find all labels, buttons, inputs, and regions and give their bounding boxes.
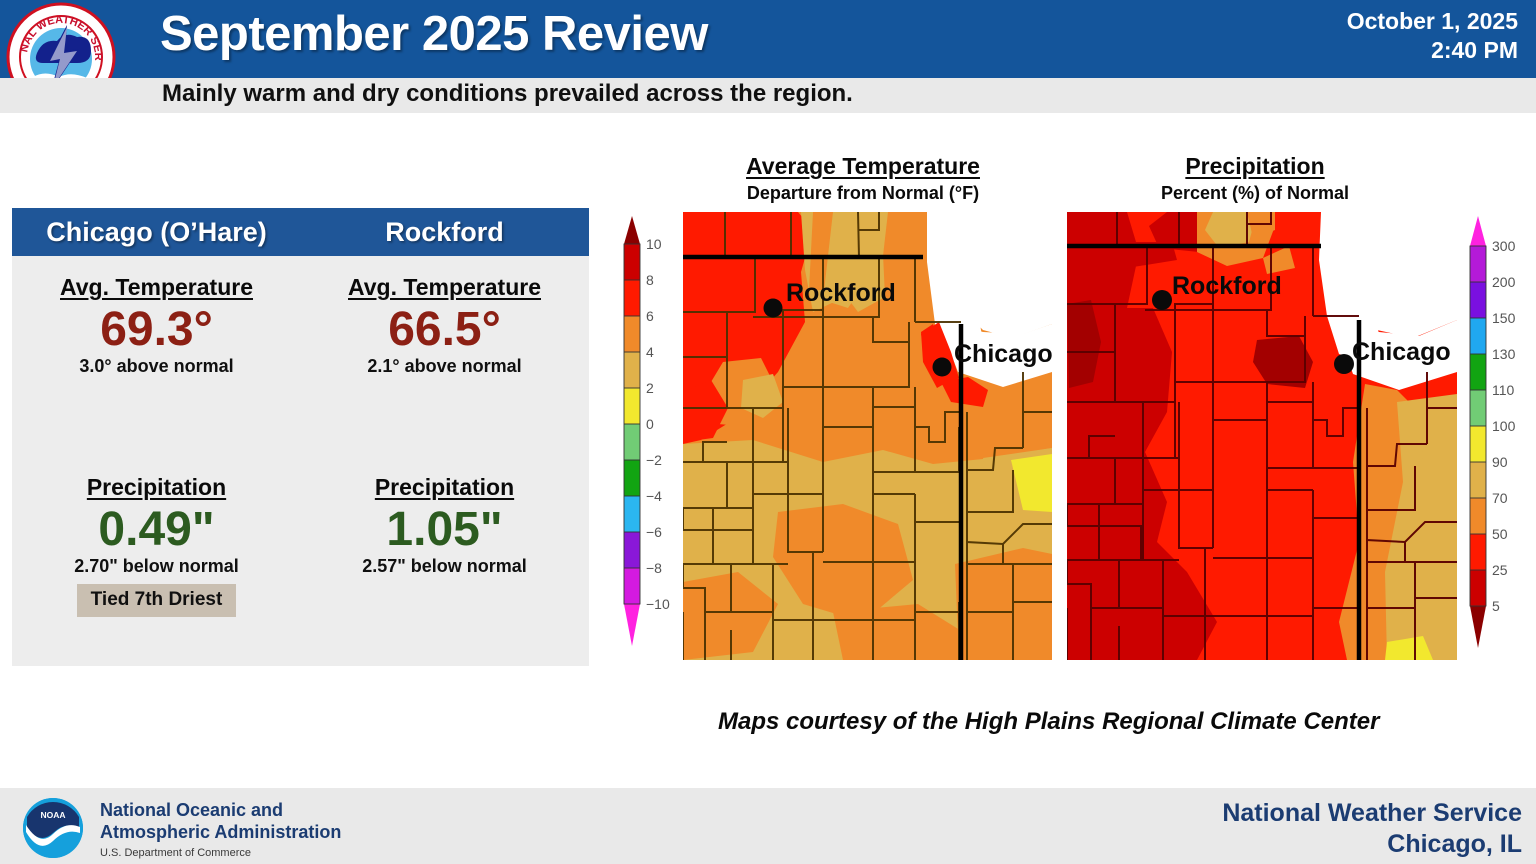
station-name-chicago: Chicago (O’Hare) xyxy=(46,217,267,248)
metric-label: Avg. Temperature xyxy=(60,274,253,301)
map-title-main: Precipitation xyxy=(1185,153,1324,180)
status-badge: Tied 7th Driest xyxy=(77,584,237,617)
colorbar-tick-label: 10 xyxy=(646,236,662,252)
svg-text:Rockford: Rockford xyxy=(786,279,896,307)
metric-departure: 2.57" below normal xyxy=(300,556,589,577)
colorbar-tick-label: 0 xyxy=(646,416,654,432)
station-panel-chicago: Chicago (O’Hare) Avg. Temperature 69.3° … xyxy=(12,208,301,666)
metric-departure: 2.1° above normal xyxy=(300,356,589,377)
colorbar-tick-label: 6 xyxy=(646,308,654,324)
colorbar-tick-label: 2 xyxy=(646,380,654,396)
colorbar-tick-label: 110 xyxy=(1492,382,1514,398)
colorbar-tick-label: 4 xyxy=(646,344,654,360)
station-panel-rockford: Rockford Avg. Temperature 66.5° 2.1° abo… xyxy=(300,208,589,666)
colorbar-tick-label: −2 xyxy=(646,452,662,468)
noaa-logo-icon: NOAA xyxy=(22,797,84,859)
metric-precipitation-rockford: Precipitation 1.05" 2.57" below normal xyxy=(300,474,589,577)
colorbar-tick-label: 5 xyxy=(1492,598,1500,614)
svg-text:Rockford: Rockford xyxy=(1172,272,1282,300)
colorbar-tick-label: 50 xyxy=(1492,526,1508,542)
metric-label: Avg. Temperature xyxy=(348,274,541,301)
subtitle-text: Mainly warm and dry conditions prevailed… xyxy=(162,80,853,108)
map-title-main: Average Temperature xyxy=(746,153,980,180)
header-datetime: October 1, 2025 2:40 PM xyxy=(1347,7,1518,66)
map-temperature-svg: Rockford xyxy=(683,212,1052,660)
colorbar-tick-label: 90 xyxy=(1492,454,1508,470)
colorbar-tick-label: −4 xyxy=(646,488,662,504)
colorbar-tick-label: 200 xyxy=(1492,274,1515,290)
map-title-precipitation: Precipitation Percent (%) of Normal xyxy=(1070,153,1440,204)
office-signature: National Weather Service Chicago, IL xyxy=(1222,798,1522,860)
map-precipitation-percent: Rockford Chicago xyxy=(1067,212,1457,660)
svg-text:NOAA: NOAA xyxy=(40,810,65,820)
map-credit: Maps courtesy of the High Plains Regiona… xyxy=(718,708,1379,736)
colorbar-tick-label: −10 xyxy=(646,596,670,612)
station-name-rockford: Rockford xyxy=(385,217,504,248)
metric-departure: 2.70" below normal xyxy=(12,556,301,577)
map-title-sub: Percent (%) of Normal xyxy=(1070,183,1440,204)
metric-value: 66.5° xyxy=(300,305,589,355)
colorbar-precipitation: 300200150130110100907050255 xyxy=(1468,214,1494,663)
noaa-line-2: Atmospheric Administration xyxy=(100,822,341,844)
colorbar-tick-label: 100 xyxy=(1492,418,1515,434)
metric-departure: 3.0° above normal xyxy=(12,356,301,377)
metric-avg-temperature-chicago: Avg. Temperature 69.3° 3.0° above normal xyxy=(12,274,301,377)
weather-review-graphic: NATIONAL WEATHER SERVICE September 2025 … xyxy=(0,0,1536,864)
colorbar-tick-label: 130 xyxy=(1492,346,1515,362)
header-date: October 1, 2025 xyxy=(1347,7,1518,36)
noaa-line-1: National Oceanic and xyxy=(100,800,341,822)
header-time: 2:40 PM xyxy=(1347,36,1518,65)
station-panel-header-chicago: Chicago (O’Hare) xyxy=(12,208,301,256)
colorbar-tick-label: 300 xyxy=(1492,238,1515,254)
map-title-sub: Departure from Normal (°F) xyxy=(678,183,1048,204)
noaa-wordmark: National Oceanic and Atmospheric Adminis… xyxy=(100,800,341,859)
office-line-2: Chicago, IL xyxy=(1222,829,1522,860)
noaa-line-3: U.S. Department of Commerce xyxy=(100,847,341,859)
station-panel-header-rockford: Rockford xyxy=(300,208,589,256)
metric-label: Precipitation xyxy=(375,474,514,501)
map-city-label-chicago: Chicago xyxy=(1352,338,1451,367)
colorbar-tick-label: 25 xyxy=(1492,562,1508,578)
map-city-label-chicago: Chicago xyxy=(954,340,1052,369)
colorbar-tick-label: 150 xyxy=(1492,310,1515,326)
map-title-temperature: Average Temperature Departure from Norma… xyxy=(678,153,1048,204)
metric-avg-temperature-rockford: Avg. Temperature 66.5° 2.1° above normal xyxy=(300,274,589,377)
map-temperature-departure: Rockford Chicago xyxy=(683,212,1052,660)
metric-value: 1.05" xyxy=(300,505,589,555)
office-line-1: National Weather Service xyxy=(1222,798,1522,829)
metric-label: Precipitation xyxy=(87,474,226,501)
metric-precipitation-chicago: Precipitation 0.49" 2.70" below normal T… xyxy=(12,474,301,617)
metric-value: 0.49" xyxy=(12,505,301,555)
colorbar-tick-label: 8 xyxy=(646,272,654,288)
colorbar-temperature: 1086420−2−4−6−8−10 xyxy=(622,214,648,663)
map-precipitation-svg: Rockford xyxy=(1067,212,1457,660)
colorbar-tick-label: −8 xyxy=(646,560,662,576)
page-title: September 2025 Review xyxy=(160,6,708,62)
metric-value: 69.3° xyxy=(12,305,301,355)
colorbar-tick-label: −6 xyxy=(646,524,662,540)
colorbar-tick-label: 70 xyxy=(1492,490,1508,506)
